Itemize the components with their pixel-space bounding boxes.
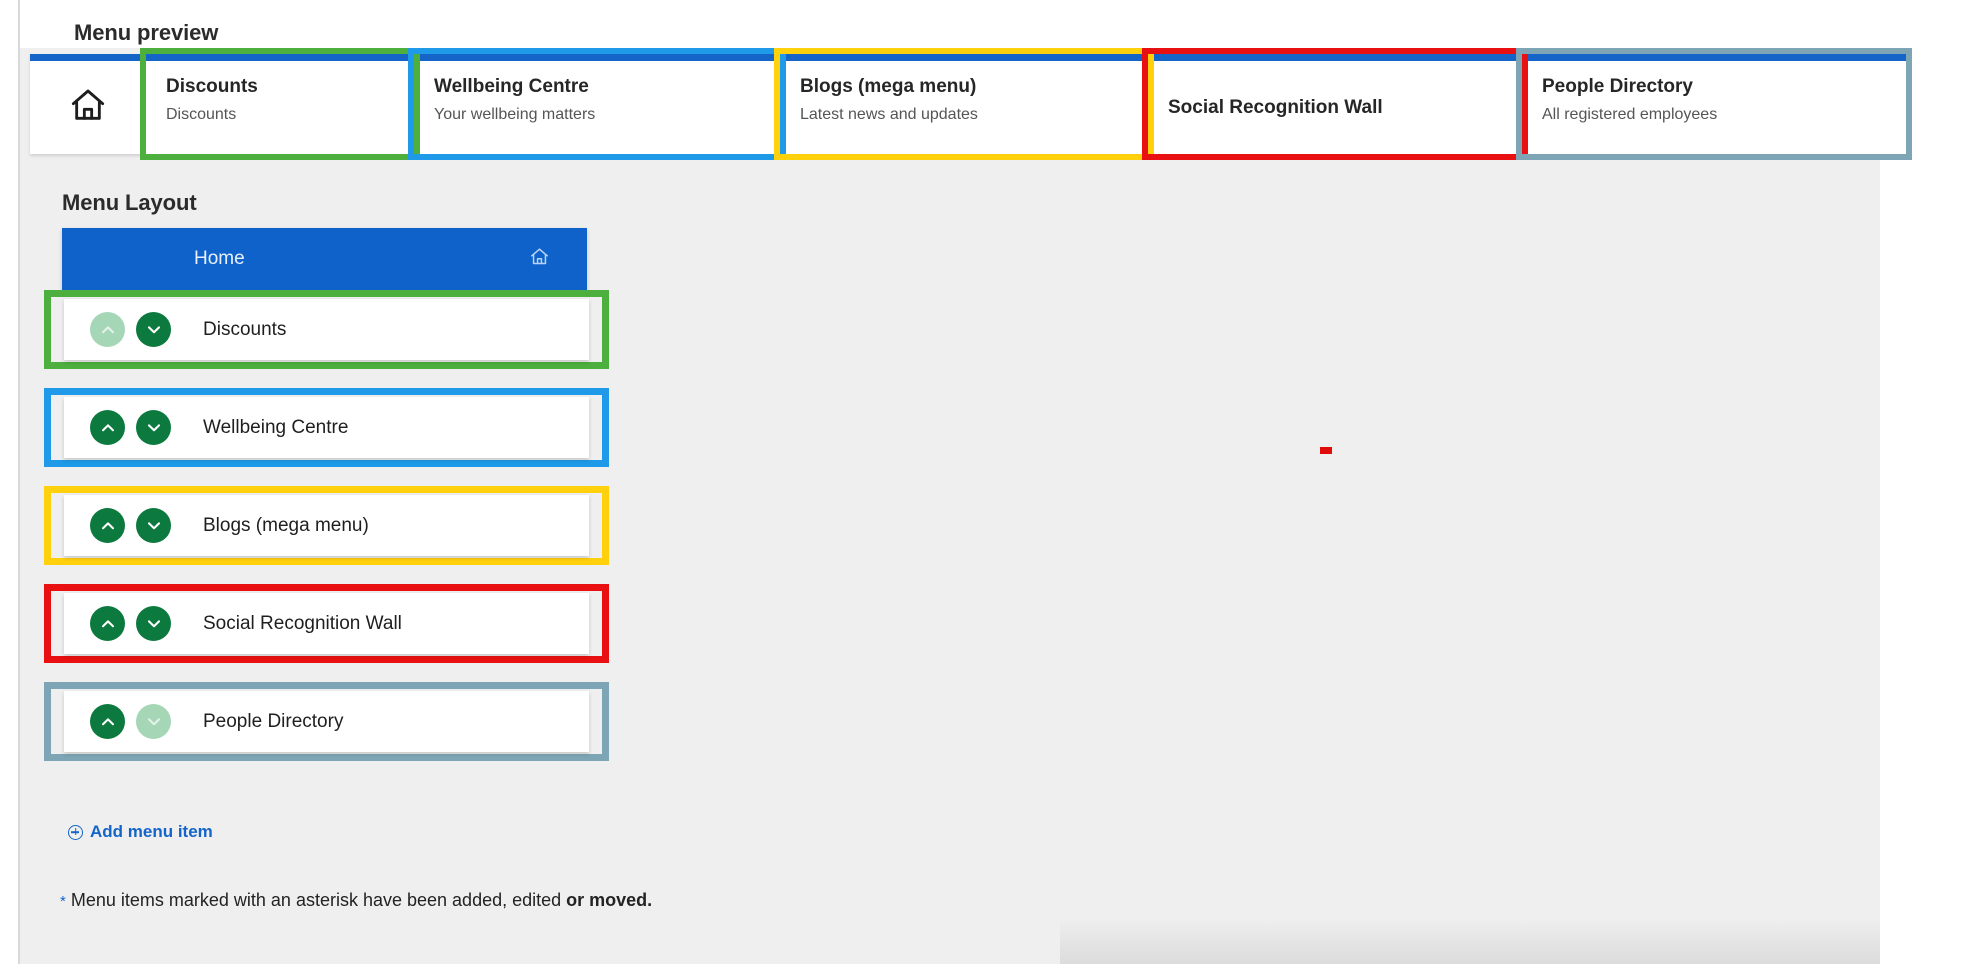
preview-card-4[interactable]: Social Recognition Wall <box>1148 54 1522 154</box>
preview-card-1[interactable]: DiscountsDiscounts <box>146 54 414 154</box>
menu-layout-list: Home DiscountsWellbeing CentreBlogs (meg… <box>44 228 614 780</box>
menu-row[interactable]: Blogs (mega menu) <box>64 495 589 556</box>
move-up-icon[interactable] <box>90 410 125 445</box>
move-down-icon[interactable] <box>136 606 171 641</box>
move-down-icon[interactable] <box>136 508 171 543</box>
footer-note-text: Menu items marked with an asterisk have … <box>71 890 566 910</box>
home-icon <box>528 246 551 272</box>
menu-editor-screen: Menu preview DiscountsDiscountsWellbeing… <box>0 0 1968 964</box>
footer-note: * Menu items marked with an asterisk hav… <box>60 890 652 911</box>
bottom-shadow-band <box>1060 918 1880 964</box>
move-up-icon[interactable] <box>90 606 125 641</box>
menu-row-wrapper: Blogs (mega menu) <box>44 486 614 565</box>
menu-row[interactable]: Wellbeing Centre <box>64 397 589 458</box>
preview-card-subtitle: Your wellbeing matters <box>434 104 764 126</box>
preview-card-title: People Directory <box>1542 75 1890 98</box>
menu-row-wrapper: Social Recognition Wall <box>44 584 614 663</box>
menu-row-label: Wellbeing Centre <box>203 417 348 439</box>
move-up-icon <box>90 312 125 347</box>
menu-row-wrapper: Discounts <box>44 290 614 369</box>
preview-card-title: Social Recognition Wall <box>1168 96 1383 119</box>
preview-card-title: Blogs (mega menu) <box>800 75 1132 98</box>
preview-card-5[interactable]: People DirectoryAll registered employees <box>1522 54 1906 154</box>
menu-row-wrapper: Wellbeing Centre <box>44 388 614 467</box>
menu-row-label: Social Recognition Wall <box>203 613 402 635</box>
menu-row-label: Blogs (mega menu) <box>203 515 369 537</box>
move-down-icon[interactable] <box>136 312 171 347</box>
menu-row-label: People Directory <box>203 711 343 733</box>
menu-row[interactable]: Social Recognition Wall <box>64 593 589 654</box>
preview-card-subtitle: Discounts <box>166 104 398 126</box>
add-menu-item-label: Add menu item <box>90 822 213 842</box>
menu-preview-heading: Menu preview <box>74 20 218 46</box>
footer-note-bold: or moved. <box>566 890 652 910</box>
preview-background-band <box>20 0 1880 48</box>
menu-preview-strip: DiscountsDiscountsWellbeing CentreYour w… <box>30 54 1906 154</box>
plus-circle-icon <box>68 825 83 840</box>
add-menu-item-button[interactable]: Add menu item <box>68 822 213 842</box>
menu-row[interactable]: Discounts <box>64 299 589 360</box>
menu-row-label: Discounts <box>203 319 286 341</box>
move-up-icon[interactable] <box>90 508 125 543</box>
preview-card-subtitle: Latest news and updates <box>800 104 1132 126</box>
red-cursor-marker <box>1320 447 1332 454</box>
preview-card-title: Discounts <box>166 75 398 98</box>
move-up-icon[interactable] <box>90 704 125 739</box>
menu-row[interactable]: People Directory <box>64 691 589 752</box>
move-down-icon[interactable] <box>136 410 171 445</box>
home-icon <box>66 85 110 130</box>
preview-card-3[interactable]: Blogs (mega menu)Latest news and updates <box>780 54 1148 154</box>
menu-rows-container: DiscountsWellbeing CentreBlogs (mega men… <box>44 290 614 761</box>
move-down-icon <box>136 704 171 739</box>
asterisk-marker: * <box>60 893 66 910</box>
preview-card-subtitle: All registered employees <box>1542 104 1890 126</box>
preview-card-home[interactable] <box>30 54 146 154</box>
menu-row-home-label: Home <box>194 248 245 270</box>
preview-card-title: Wellbeing Centre <box>434 75 764 98</box>
menu-layout-heading: Menu Layout <box>62 190 197 216</box>
preview-card-2[interactable]: Wellbeing CentreYour wellbeing matters <box>414 54 780 154</box>
menu-row-home[interactable]: Home <box>62 228 587 290</box>
menu-row-wrapper: People Directory <box>44 682 614 761</box>
